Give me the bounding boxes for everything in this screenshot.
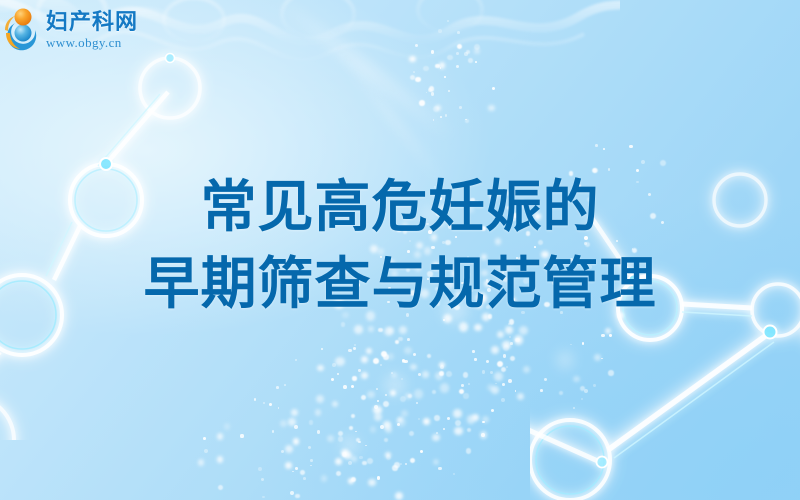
bokeh-particle: [475, 61, 477, 63]
bokeh-particle: [351, 477, 356, 482]
bokeh-particle: [387, 327, 394, 334]
bokeh-particle: [440, 116, 442, 118]
bokeh-particle: [300, 470, 305, 475]
bokeh-particle: [456, 52, 459, 55]
bokeh-particle: [454, 427, 463, 436]
bokeh-particle: [509, 336, 511, 338]
bokeh-particle: [240, 434, 243, 437]
bokeh-particle: [204, 449, 208, 453]
bokeh-particle: [503, 345, 509, 351]
bokeh-particle: [378, 328, 383, 333]
bokeh-particle: [491, 386, 498, 393]
bokeh-particle: [377, 476, 381, 480]
bokeh-particle: [501, 398, 505, 402]
bokeh-particle: [399, 326, 407, 334]
bokeh-particle: [303, 477, 306, 480]
bokeh-particle: [383, 401, 389, 407]
bokeh-particle: [198, 459, 205, 466]
bokeh-particle: [391, 372, 393, 374]
bokeh-particle: [317, 365, 324, 372]
bokeh-particle: [474, 324, 481, 331]
bokeh-particle: [508, 379, 512, 383]
bokeh-particle: [435, 372, 443, 380]
bokeh-particle: [461, 384, 464, 387]
bokeh-particle: [457, 44, 462, 49]
bokeh-particle: [398, 337, 403, 342]
bokeh-particle: [502, 341, 510, 349]
bokeh-particle: [438, 29, 442, 33]
bokeh-particle: [517, 393, 524, 400]
bokeh-particle: [439, 371, 444, 376]
bokeh-particle: [386, 455, 392, 461]
bokeh-particle: [284, 384, 286, 386]
bokeh-particle: [295, 359, 297, 361]
bokeh-particle: [446, 371, 452, 377]
bokeh-particle: [467, 415, 476, 424]
bokeh-particle: [342, 452, 347, 457]
bokeh-particle: [400, 396, 406, 402]
site-logo[interactable]: 妇产科网 www.obgy.cn: [4, 6, 138, 54]
bokeh-particle: [254, 398, 257, 401]
bokeh-particle: [413, 353, 416, 356]
bokeh-particle: [427, 354, 431, 358]
bokeh-particle: [453, 473, 455, 475]
bokeh-particle: [601, 334, 605, 338]
bokeh-particle: [468, 383, 470, 385]
bokeh-particle: [595, 144, 598, 147]
bokeh-particle: [391, 372, 397, 378]
bokeh-particle: [358, 441, 361, 444]
bokeh-particle: [385, 452, 391, 458]
bokeh-particle: [383, 421, 391, 429]
bokeh-particle: [468, 58, 473, 63]
bokeh-glow: [341, 436, 359, 454]
bokeh-particle: [348, 349, 352, 353]
bokeh-particle: [440, 67, 441, 68]
presentation-slide: 妇产科网 www.obgy.cn 常见高危妊娠的 早期筛查与规范管理: [0, 0, 800, 500]
bokeh-particle: [368, 479, 376, 487]
bokeh-particle: [492, 87, 495, 90]
bokeh-particle: [494, 372, 503, 381]
bokeh-particle: [464, 52, 468, 56]
bokeh-particle: [488, 105, 495, 112]
bokeh-particle: [415, 44, 418, 47]
bokeh-particle: [285, 462, 292, 469]
bokeh-particle: [482, 421, 485, 424]
bokeh-particle: [395, 340, 399, 344]
bokeh-particle: [559, 391, 563, 395]
bokeh-particle: [407, 338, 410, 341]
bokeh-particle: [432, 434, 439, 441]
bokeh-particle: [444, 76, 446, 78]
bokeh-particle: [641, 160, 645, 164]
bokeh-particle: [490, 371, 493, 374]
bokeh-particle: [418, 418, 420, 420]
bokeh-particle: [292, 471, 293, 472]
bokeh-particle: [290, 491, 294, 495]
bokeh-particle: [481, 433, 485, 437]
bokeh-particle: [482, 370, 486, 374]
bokeh-particle: [463, 372, 469, 378]
bokeh-particle: [285, 445, 293, 453]
bokeh-particle: [355, 431, 357, 433]
bokeh-particle: [359, 456, 363, 460]
light-streak: [331, 41, 450, 189]
bokeh-particle: [385, 426, 392, 433]
bokeh-particle: [419, 100, 425, 106]
bokeh-particle: [341, 449, 348, 456]
logo-url-text: www.obgy.cn: [46, 36, 138, 49]
bokeh-particle: [410, 458, 415, 463]
bokeh-particle: [402, 359, 406, 363]
logo-mark-icon: [4, 6, 42, 54]
bokeh-particle: [368, 326, 374, 332]
bokeh-particle: [506, 366, 508, 368]
bokeh-particle: [457, 31, 460, 34]
bokeh-particle: [224, 423, 231, 430]
bokeh-particle: [308, 446, 311, 449]
bokeh-particle: [443, 428, 445, 430]
title-line-1: 常见高危妊娠的: [0, 168, 800, 245]
bokeh-particle: [594, 354, 601, 361]
bokeh-particle: [439, 62, 445, 68]
bokeh-particle: [367, 391, 375, 399]
bokeh-particle: [491, 346, 499, 354]
bokeh-particle: [409, 431, 415, 437]
bokeh-particle: [593, 384, 596, 387]
bokeh-particle: [315, 409, 322, 416]
bokeh-particle: [438, 467, 441, 470]
bokeh-particle: [466, 448, 472, 454]
bokeh-particle: [434, 415, 439, 420]
bokeh-particle: [405, 393, 411, 399]
bokeh-particle: [402, 360, 405, 363]
bokeh-particle: [482, 416, 489, 423]
bokeh-particle: [544, 378, 547, 381]
bokeh-particle: [408, 394, 412, 398]
bokeh-particle: [261, 478, 264, 481]
bokeh-particle: [416, 402, 418, 404]
bokeh-particle: [400, 463, 402, 465]
bokeh-particle: [409, 56, 415, 62]
bokeh-particle: [465, 119, 466, 120]
bokeh-particle: [426, 92, 428, 94]
bokeh-particle: [335, 458, 342, 465]
bokeh-particle: [455, 420, 461, 426]
bokeh-particle: [573, 376, 579, 382]
bokeh-particle: [584, 389, 588, 393]
bokeh-particle: [401, 410, 408, 417]
bokeh-particle: [356, 438, 360, 442]
bokeh-particle: [414, 389, 423, 398]
bokeh-particle: [331, 378, 334, 381]
bokeh-particle: [269, 403, 272, 406]
bokeh-particle: [336, 471, 341, 476]
bokeh-particle: [390, 390, 396, 396]
bokeh-particle: [354, 344, 356, 346]
bokeh-particle: [435, 105, 441, 111]
bokeh-particle: [505, 326, 513, 334]
bokeh-particle: [404, 360, 408, 364]
bokeh-particle: [440, 383, 449, 392]
title-line-2: 早期筛查与规范管理: [0, 245, 800, 322]
bokeh-particle: [465, 119, 469, 123]
bokeh-particle: [384, 438, 388, 442]
bokeh-particle: [217, 456, 223, 462]
bokeh-particle: [341, 322, 346, 327]
bokeh-particle: [352, 376, 356, 380]
bokeh-particle: [432, 390, 436, 394]
bokeh-particle: [474, 358, 476, 360]
bokeh-particle: [540, 389, 543, 392]
bokeh-particle: [486, 360, 489, 363]
bokeh-particle: [397, 417, 403, 423]
bokeh-particle: [294, 425, 298, 429]
bokeh-particle: [515, 390, 517, 392]
bokeh-particle: [263, 402, 265, 404]
bokeh-particle: [420, 450, 423, 453]
bokeh-particle: [338, 436, 343, 441]
bokeh-particle: [581, 398, 584, 401]
bokeh-particle: [472, 414, 479, 421]
bokeh-particle: [459, 322, 468, 331]
bokeh-particle: [262, 496, 264, 498]
bokeh-particle: [415, 77, 420, 82]
bokeh-particle: [523, 366, 530, 373]
bokeh-glow: [556, 351, 574, 369]
bokeh-particle: [447, 20, 449, 22]
bokeh-particle: [310, 459, 313, 462]
bokeh-particle: [570, 344, 571, 345]
bokeh-particle: [431, 50, 435, 54]
bokeh-particle: [365, 445, 367, 447]
bokeh-particle: [370, 426, 376, 432]
bokeh-particle: [413, 71, 415, 73]
bokeh-particle: [605, 328, 611, 334]
bokeh-particle: [418, 373, 421, 376]
bokeh-particle: [463, 393, 468, 398]
bokeh-particle: [423, 418, 430, 425]
bokeh-particle: [361, 356, 369, 364]
bokeh-particle: [348, 478, 354, 484]
bokeh-particle: [501, 367, 506, 372]
bokeh-particle: [503, 354, 507, 358]
bokeh-particle: [321, 348, 324, 351]
bokeh-particle: [660, 160, 666, 166]
bokeh-particle: [295, 494, 300, 499]
bokeh-particle: [348, 461, 352, 465]
bokeh-particle: [361, 395, 366, 400]
bokeh-particle: [367, 458, 373, 464]
bokeh-particle: [317, 430, 321, 434]
bokeh-particle: [288, 418, 296, 426]
bokeh-particle: [353, 347, 356, 350]
bokeh-particle: [218, 485, 223, 490]
bokeh-particle: [343, 385, 347, 389]
bokeh-particle: [332, 401, 339, 408]
light-streak: [269, 0, 460, 145]
bokeh-particle: [349, 426, 353, 430]
bokeh-particle: [338, 431, 343, 436]
bokeh-particle: [510, 342, 513, 345]
bokeh-particle: [374, 405, 378, 409]
bokeh-particle: [309, 420, 313, 424]
bokeh-particle: [480, 431, 487, 438]
slide-title: 常见高危妊娠的 早期筛查与规范管理: [0, 168, 800, 323]
bokeh-particle: [447, 55, 452, 60]
bokeh-particle: [397, 423, 400, 426]
bokeh-particle: [508, 323, 510, 325]
bokeh-particle: [374, 413, 382, 421]
bokeh-particle: [447, 417, 450, 420]
bokeh-particle: [515, 338, 520, 343]
bokeh-particle: [445, 114, 447, 116]
bokeh-particle: [291, 409, 298, 416]
bokeh-particle: [459, 106, 462, 109]
bokeh-particle: [601, 358, 603, 360]
bokeh-particle: [422, 371, 428, 377]
bokeh-particle: [502, 383, 505, 386]
bokeh-particle: [410, 75, 415, 80]
bokeh-particle: [380, 364, 382, 366]
bokeh-particle: [293, 438, 299, 444]
bokeh-particle: [321, 475, 327, 481]
bokeh-particle: [337, 373, 339, 375]
bokeh-particle: [362, 461, 366, 465]
bokeh-particle: [358, 369, 360, 371]
bokeh-particle: [448, 90, 450, 92]
bokeh-particle: [580, 386, 585, 391]
bokeh-particle: [401, 378, 403, 380]
bokeh-particle: [272, 430, 274, 432]
bokeh-particle: [373, 358, 379, 364]
bokeh-particle: [381, 351, 387, 357]
bokeh-particle: [351, 456, 357, 462]
bokeh-particle: [609, 334, 611, 336]
bokeh-particle: [474, 48, 480, 54]
bokeh-particle: [380, 425, 384, 429]
bokeh-particle: [361, 372, 368, 379]
bokeh-particle: [440, 365, 444, 369]
bokeh-particle: [629, 145, 633, 149]
bokeh-particle: [582, 342, 584, 344]
bokeh-particle: [439, 362, 445, 368]
bokeh-particle: [435, 64, 440, 69]
bokeh-particle: [397, 417, 407, 427]
bokeh-particle: [514, 335, 523, 344]
bokeh-particle: [203, 437, 206, 440]
bokeh-particle: [276, 386, 279, 389]
bokeh-particle: [316, 395, 324, 403]
bokeh-particle: [295, 467, 298, 470]
bokeh-particle: [491, 409, 494, 412]
bokeh-particle: [472, 350, 475, 353]
bokeh-particle: [351, 385, 354, 388]
bokeh-particle: [392, 465, 397, 470]
bokeh-particle: [405, 463, 407, 465]
bokeh-particle: [497, 361, 503, 367]
bokeh-particle: [281, 450, 284, 453]
bokeh-particle: [487, 384, 494, 391]
bokeh-particle: [433, 459, 439, 465]
bokeh-particle: [335, 357, 345, 367]
bokeh-particle: [404, 347, 412, 355]
bokeh-particle: [366, 348, 372, 354]
bokeh-particle: [453, 409, 462, 418]
bokeh-particle: [354, 325, 363, 334]
bokeh-particle: [395, 492, 403, 500]
bokeh-glow: [384, 374, 406, 396]
bokeh-particle: [423, 66, 429, 72]
bokeh-particle: [456, 65, 459, 68]
bokeh-particle: [351, 414, 356, 419]
bokeh-particle: [429, 86, 435, 92]
bokeh-particle: [327, 435, 334, 442]
bokeh-particle: [258, 467, 262, 471]
bokeh-particle: [510, 356, 515, 361]
bokeh-particle: [344, 452, 352, 460]
bokeh-particle: [385, 394, 387, 396]
bokeh-particle: [280, 420, 287, 427]
bokeh-particle: [387, 353, 393, 359]
bokeh-particle: [573, 407, 575, 409]
bokeh-particle: [495, 383, 497, 385]
bokeh-particle: [428, 88, 432, 92]
bokeh-particle: [278, 407, 280, 409]
bokeh-particle: [383, 354, 388, 359]
bokeh-particle: [217, 433, 224, 440]
bokeh-particle: [433, 106, 439, 112]
bokeh-particle: [474, 44, 480, 50]
bokeh-particle: [332, 363, 336, 367]
bokeh-particle: [467, 428, 471, 432]
bokeh-particle: [436, 432, 438, 434]
bokeh-particle: [466, 50, 470, 54]
bokeh-particle: [376, 388, 378, 390]
bokeh-particle: [394, 462, 399, 467]
bokeh-particle: [310, 465, 311, 466]
logo-name-text: 妇产科网: [46, 11, 138, 33]
bokeh-particle: [410, 364, 416, 370]
bokeh-particle: [433, 119, 435, 121]
bokeh-particle: [373, 406, 381, 414]
bokeh-particle: [431, 92, 435, 96]
bokeh-particle: [459, 389, 464, 394]
bokeh-particle: [603, 148, 605, 150]
bokeh-particle: [377, 400, 379, 402]
bokeh-particle: [497, 331, 504, 338]
bokeh-particle: [608, 370, 613, 375]
bokeh-particle: [384, 327, 393, 336]
bokeh-particle: [519, 326, 528, 335]
